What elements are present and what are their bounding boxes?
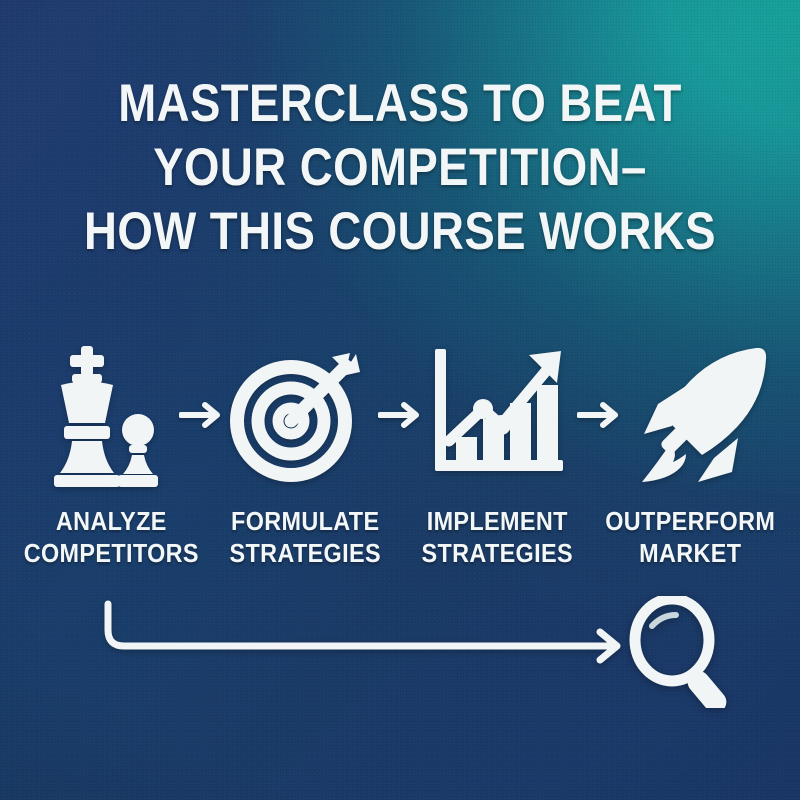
step-label-formulate-strategies: FORMULATE STRATEGIES <box>218 505 391 569</box>
step-label-line2: MARKET <box>603 537 776 569</box>
step-label-analyze-competitors: ANALYZE COMPETITORS <box>24 505 199 569</box>
title-line-3: HOW THIS COURSE WORKS <box>56 200 744 264</box>
step-label-line2: COMPETITORS <box>24 537 199 569</box>
arrow-right-icon <box>179 400 223 430</box>
step-label-line2: STRATEGIES <box>411 537 584 569</box>
flow-connector-3 <box>576 395 622 435</box>
chess-king-pawn-icon <box>34 342 168 488</box>
rocket-icon <box>628 342 770 488</box>
step-label-line1: IMPLEMENT <box>411 505 584 537</box>
step-icon-analyze-competitors <box>28 340 174 490</box>
arrow-right-icon <box>577 400 621 430</box>
step-label-line2: STRATEGIES <box>218 537 391 569</box>
target-arrow-icon <box>229 343 371 487</box>
title-line-2: YOUR COMPETITION– <box>56 136 744 200</box>
step-label-implement-strategies: IMPLEMENT STRATEGIES <box>411 505 584 569</box>
flow-connector-1 <box>178 395 224 435</box>
step-label-outperform-market: OUTPERFORM MARKET <box>603 505 776 569</box>
poster-canvas: MASTERCLASS TO BEAT YOUR COMPETITION– HO… <box>0 0 800 800</box>
step-icon-implement-strategies <box>427 340 573 490</box>
step-icon-formulate-strategies <box>227 340 373 490</box>
title-line-1: MASTERCLASS TO BEAT <box>56 72 744 136</box>
magnifying-glass-icon <box>624 596 754 708</box>
step-label-line1: FORMULATE <box>218 505 391 537</box>
bar-chart-growth-icon <box>429 343 571 487</box>
flow-connector-2 <box>377 395 423 435</box>
arrow-right-icon <box>378 400 422 430</box>
magnifying-glass <box>624 596 754 708</box>
step-icon-outperform-market <box>626 340 772 490</box>
step-label-line1: ANALYZE <box>24 505 199 537</box>
process-labels-row: ANALYZE COMPETITORS FORMULATE STRATEGIES… <box>14 505 786 569</box>
page-title: MASTERCLASS TO BEAT YOUR COMPETITION– HO… <box>56 72 744 264</box>
step-label-line1: OUTPERFORM <box>603 505 776 537</box>
process-flow-row <box>28 335 772 495</box>
